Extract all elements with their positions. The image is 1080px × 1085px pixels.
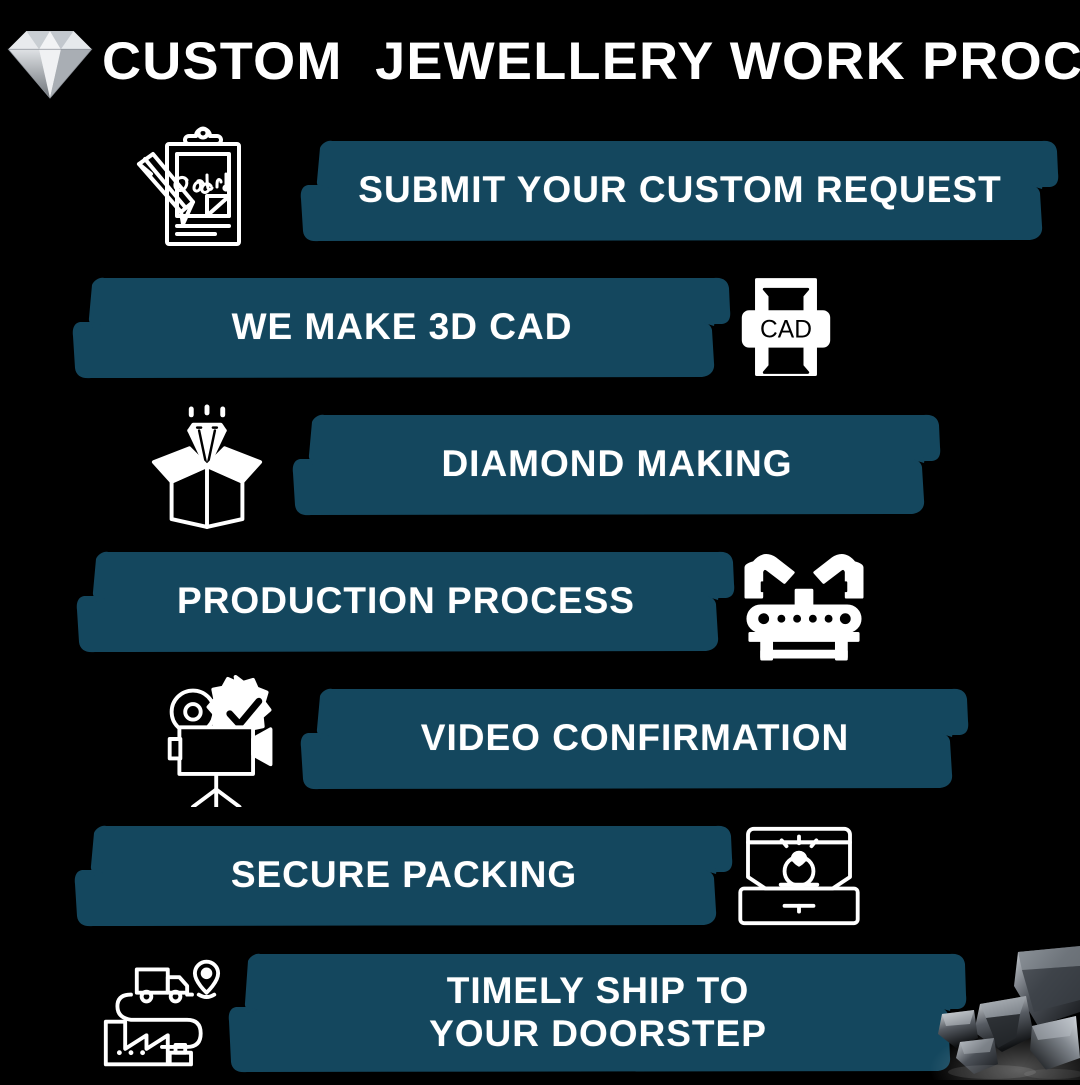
step-label-1: SUBMIT YOUR CUSTOM REQUEST — [300, 169, 1060, 212]
step-banner-6[interactable]: SECURE PACKING — [74, 824, 734, 928]
step-banner-5[interactable]: VIDEO CONFIRMATION — [300, 687, 970, 791]
conveyor-robot-arms-icon — [740, 543, 868, 661]
step-label-4: PRODUCTION PROCESS — [76, 580, 736, 623]
ring-jewelry-box-icon — [736, 825, 862, 927]
svg-text:CAD: CAD — [760, 316, 812, 343]
step-label-7: TIMELY SHIP TO YOUR DOORSTEP — [228, 970, 968, 1056]
video-camera-check-icon — [160, 671, 286, 807]
step-label-6: SECURE PACKING — [74, 854, 734, 897]
process-step-row-2: CAD WE MAKE 3D CAD — [0, 259, 1080, 396]
header: CUSTOM JEWELLERY WORK PROCESS — [0, 0, 1080, 122]
process-step-row-3: DIAMOND MAKING — [0, 396, 1080, 533]
clipboard-order-pencil-icon — [125, 126, 255, 256]
process-step-row-6: SECURE PACKING — [0, 807, 1080, 944]
process-step-row-7: TIMELY SHIP TO YOUR DOORSTEP — [0, 944, 1080, 1081]
step-banner-3[interactable]: DIAMOND MAKING — [292, 413, 942, 517]
cad-file-printer-icon: CAD — [734, 276, 838, 380]
process-step-row-1: SUBMIT YOUR CUSTOM REQUEST — [0, 122, 1080, 259]
step-label-5: VIDEO CONFIRMATION — [300, 717, 970, 760]
process-step-row-5: VIDEO CONFIRMATION — [0, 670, 1080, 807]
page-title: CUSTOM JEWELLERY WORK PROCESS — [102, 35, 1080, 88]
factory-truck-route-icon — [98, 952, 224, 1074]
step-banner-1[interactable]: SUBMIT YOUR CUSTOM REQUEST — [300, 139, 1060, 243]
diamond-gem-icon — [4, 22, 96, 100]
process-steps-list: SUBMIT YOUR CUSTOM REQUEST CAD WE MAKE 3… — [0, 122, 1080, 1081]
step-label-2: WE MAKE 3D CAD — [72, 306, 732, 349]
step-label-3: DIAMOND MAKING — [292, 443, 942, 486]
diamond-in-open-box-icon — [148, 401, 266, 529]
step-banner-7[interactable]: TIMELY SHIP TO YOUR DOORSTEP — [228, 952, 968, 1074]
step-banner-4[interactable]: PRODUCTION PROCESS — [76, 550, 736, 654]
process-step-row-4: PRODUCTION PROCESS — [0, 533, 1080, 670]
step-banner-2[interactable]: WE MAKE 3D CAD — [72, 276, 732, 380]
